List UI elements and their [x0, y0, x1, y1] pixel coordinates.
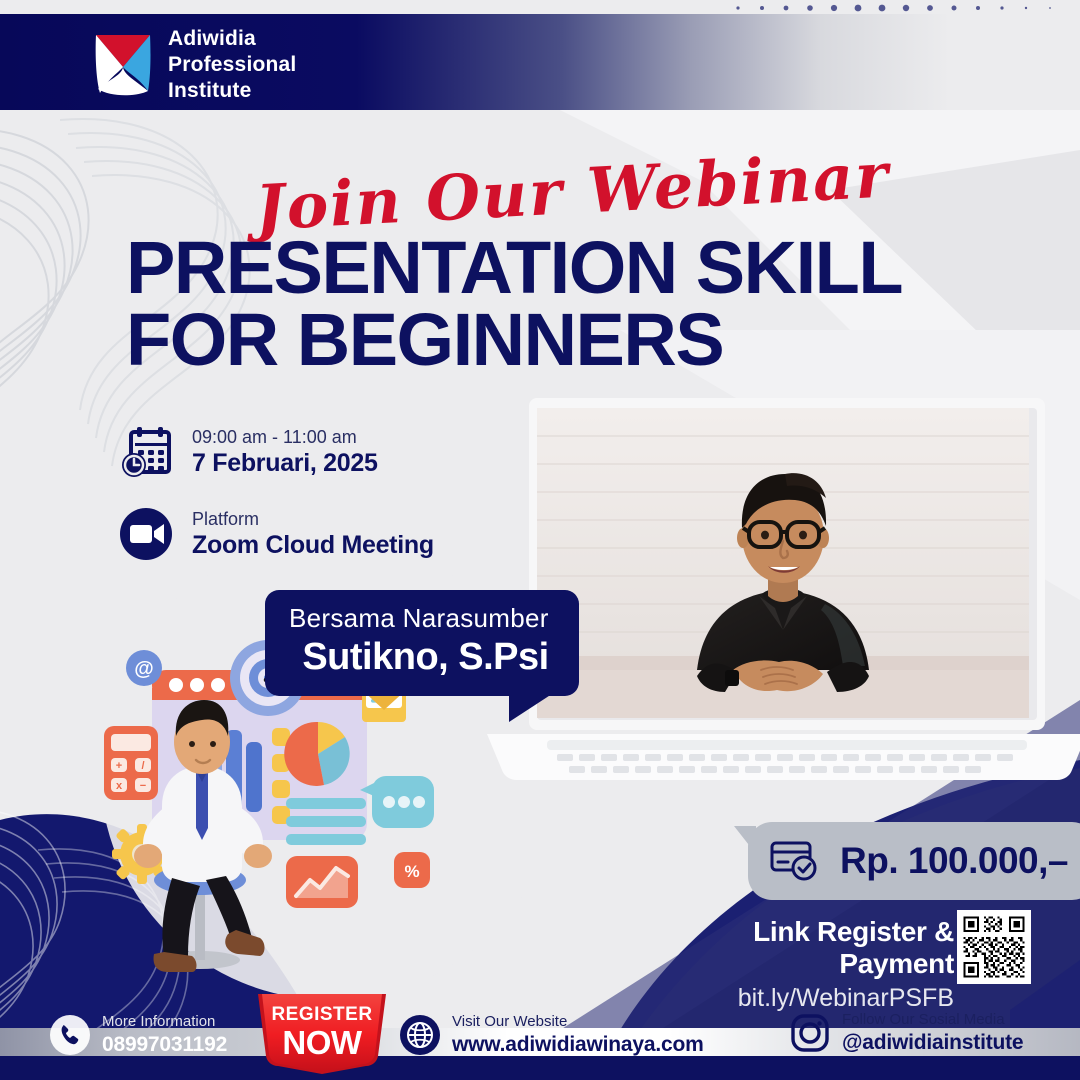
svg-text:@: @ [134, 658, 154, 680]
webinar-poster: Adiwidia Professional Institute Join Our… [0, 0, 1080, 1080]
info-platform-text: Platform Zoom Cloud Meeting [192, 508, 434, 559]
video-camera-icon [118, 506, 174, 562]
price-badge: Rp. 100.000,– [748, 822, 1080, 900]
adiwidia-logo-icon [92, 31, 154, 99]
info-row-date: 09:00 am - 11:00 am 7 Februari, 2025 [118, 424, 434, 480]
info-row-platform: Platform Zoom Cloud Meeting [118, 506, 434, 562]
footer-phone-text: More Information 08997031192 [102, 1012, 227, 1058]
page-title: PRESENTATION SKILL FOR BEGINNERS [126, 232, 902, 376]
website-label: Visit Our Website [452, 1012, 704, 1032]
event-time: 09:00 am - 11:00 am [192, 426, 378, 449]
logo-wordmark: Adiwidia Professional Institute [168, 26, 296, 103]
platform-label: Platform [192, 508, 434, 531]
speaker-prefix: Bersama Narasumber [289, 602, 549, 635]
price-amount: Rp. 100.000,– [840, 840, 1068, 882]
footer-social-text: Follow Our Sosial Media @adiwidiainstitu… [842, 1010, 1023, 1056]
phone-value: 08997031192 [102, 1032, 227, 1058]
footer-website: Visit Our Website www.adiwidiawinaya.com [400, 1012, 704, 1058]
event-info: 09:00 am - 11:00 am 7 Februari, 2025 Pla… [118, 424, 434, 588]
logo-line-3: Institute [168, 78, 296, 104]
title-line-1: PRESENTATION SKILL [126, 226, 902, 309]
ribbon-line-2: NOW [282, 1024, 363, 1061]
speaker-name: Sutikno, S.Psi [289, 635, 549, 681]
register-link-block: Link Register & Payment bit.ly/WebinarPS… [664, 916, 954, 1013]
logo-line-2: Professional [168, 52, 296, 78]
register-title: Link Register & Payment [664, 916, 954, 980]
event-date: 7 Februari, 2025 [192, 449, 378, 478]
footer-strip [0, 1056, 1080, 1080]
calendar-clock-icon [118, 424, 174, 480]
platform-value: Zoom Cloud Meeting [192, 531, 434, 560]
payment-card-icon [770, 840, 820, 882]
footer-social: Follow Our Sosial Media @adiwidiainstitu… [790, 1010, 1023, 1056]
svg-text:/: / [141, 760, 144, 772]
register-url[interactable]: bit.ly/WebinarPSFB [664, 984, 954, 1013]
phone-icon [50, 1015, 90, 1055]
svg-text:x: x [116, 780, 123, 792]
svg-text:%: % [404, 862, 419, 881]
qr-code[interactable] [957, 910, 1031, 984]
social-value[interactable]: @adiwidiainstitute [842, 1030, 1023, 1056]
info-date-text: 09:00 am - 11:00 am 7 Februari, 2025 [192, 426, 378, 477]
svg-text:+: + [116, 760, 122, 772]
globe-icon [400, 1015, 440, 1055]
register-now-ribbon[interactable]: REGISTER NOW [252, 994, 392, 1080]
footer-website-text: Visit Our Website www.adiwidiawinaya.com [452, 1012, 704, 1058]
instagram-icon[interactable] [790, 1013, 830, 1053]
brand-logo: Adiwidia Professional Institute [92, 26, 296, 103]
ribbon-line-1: REGISTER [271, 1004, 372, 1025]
speaker-callout: Bersama Narasumber Sutikno, S.Psi [265, 590, 579, 696]
phone-label: More Information [102, 1012, 227, 1032]
speaker-photo [537, 408, 1029, 718]
logo-line-1: Adiwidia [168, 26, 296, 52]
footer-phone: More Information 08997031192 [50, 1012, 227, 1058]
social-label: Follow Our Sosial Media [842, 1010, 1023, 1030]
website-value[interactable]: www.adiwidiawinaya.com [452, 1032, 704, 1058]
svg-text:−: − [140, 780, 146, 792]
title-line-2: FOR BEGINNERS [126, 304, 902, 376]
